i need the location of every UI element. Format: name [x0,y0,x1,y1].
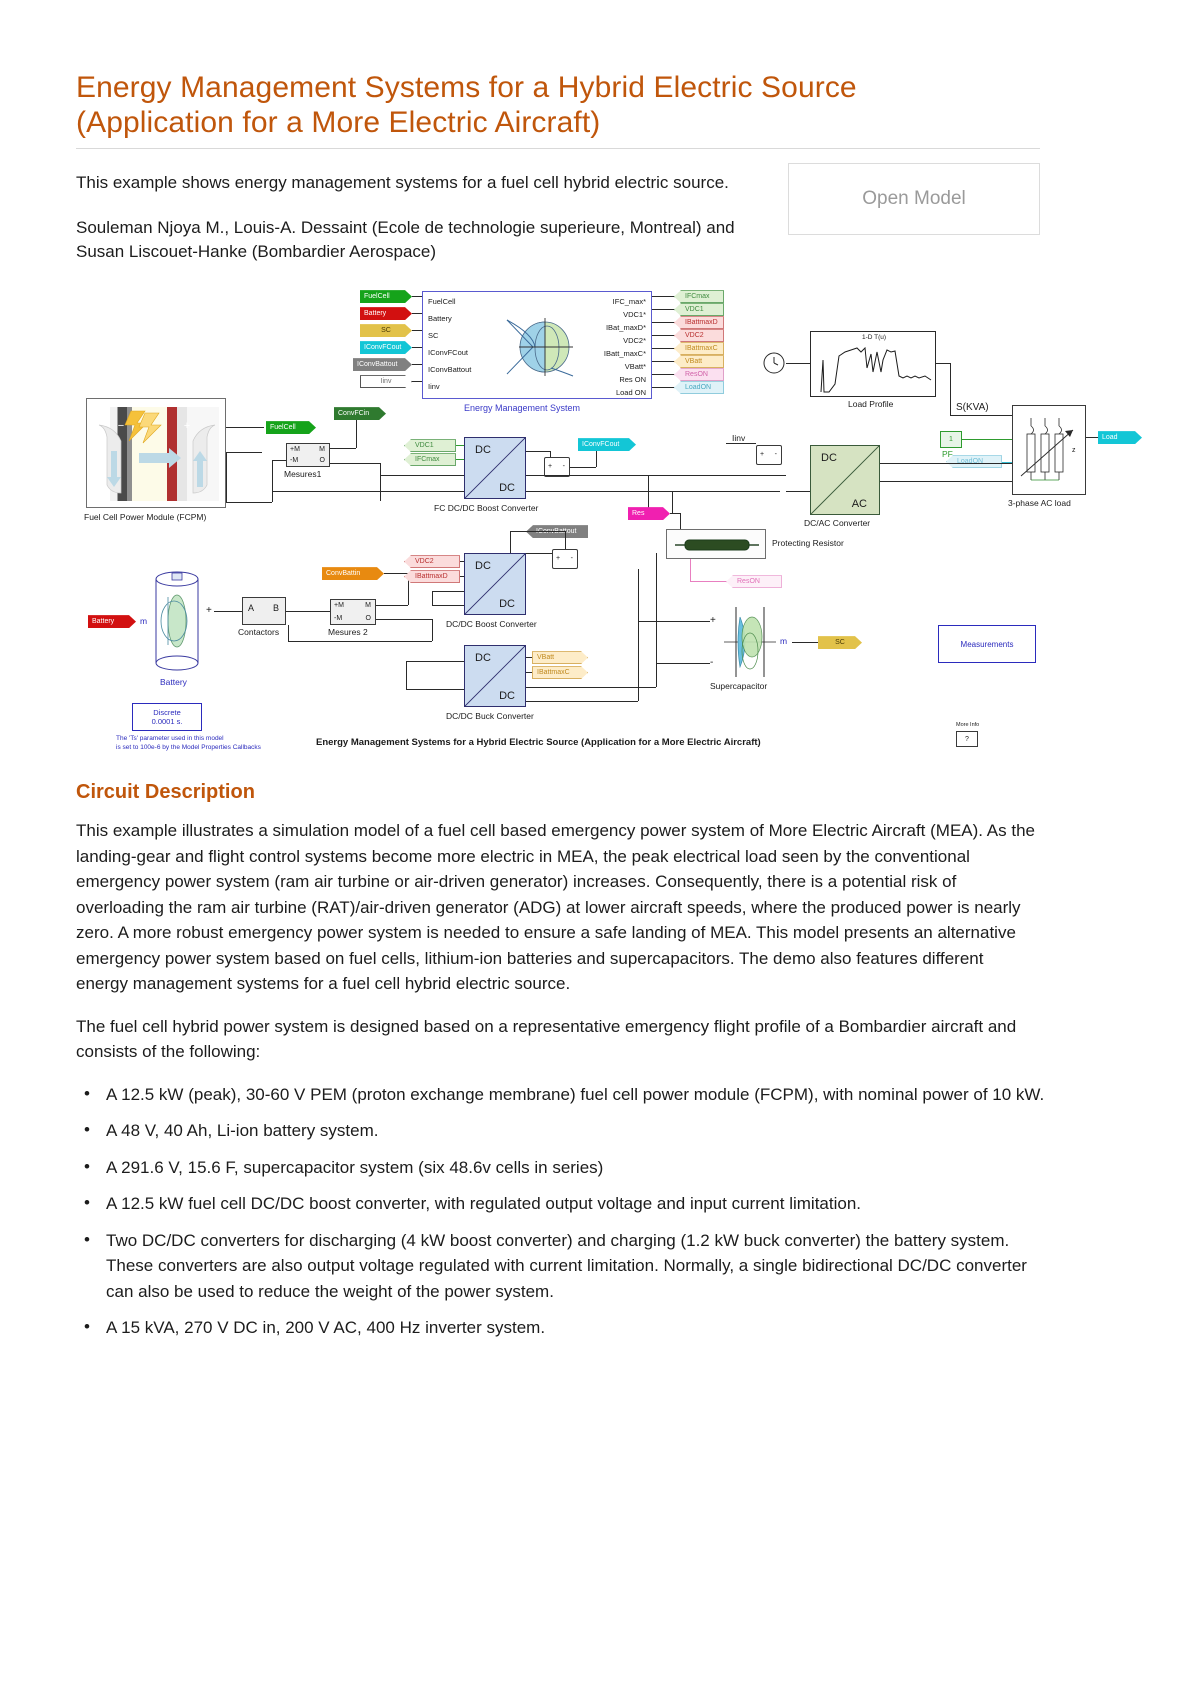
ems-out-reson: Res ON [619,375,646,384]
supercap-plus-port: + [710,615,716,626]
sum1-minus: - [563,463,565,470]
goto-tag-ibattmaxd[interactable]: IBattmaxD [674,316,724,329]
ems-out-ibattmaxc: IBatt_maxC* [604,349,646,358]
sum2-minus: - [775,451,777,458]
current-sum-block-1[interactable]: + - [544,457,570,477]
protecting-resistor-block[interactable] [666,529,766,559]
more-info-button[interactable]: ? [956,731,978,747]
dcdc-buck-converter-block[interactable]: DC DC [464,645,526,707]
list-item: Two DC/DC converters for discharging (4 … [76,1228,1056,1305]
load-profile-inner-label: 1-D T(u) [811,334,936,341]
fcpm-label: Fuel Cell Power Module (FCPM) [84,512,206,522]
circuit-description-paragraph-1: This example illustrates a simulation mo… [76,818,1036,997]
ems-in-fuelcell: FuelCell [428,297,456,306]
ems-thumbnail-icon [505,316,575,378]
ems-out-ifcmax: IFC_max* [613,297,646,306]
goto-tag-loadon[interactable]: LoadON [674,381,724,394]
from-tag-iconvfcout[interactable]: IConvFCout [360,341,412,354]
authors-paragraph: Souleman Njoya M., Louis-A. Dessaint (Ec… [76,216,748,265]
dcac-ac-bottom: AC [852,498,867,510]
fc-dcdc-boost-converter-block[interactable]: DC DC [464,437,526,499]
open-model-button[interactable]: Open Model [788,163,1040,235]
ems-caption: Energy Management System [464,403,580,413]
circuit-description-heading: Circuit Description [76,781,1116,804]
goto-tag-ibattmaxc[interactable]: IBattmaxC [674,342,724,355]
ems-out-ibatmaxd: IBat_maxD* [606,323,646,332]
sum2-plus: + [760,451,764,458]
contactor-port-a: A [248,603,254,613]
mesures1-block[interactable]: +M M -M O [286,443,330,467]
mesures2-port-o: O [366,615,371,622]
mesures1-port-plus-m: +M [290,446,300,453]
from-tag-ifcmax-conv[interactable]: IFCmax [404,453,456,466]
from-tag-iconvbattout[interactable]: IConvBattout [353,358,412,371]
page-title-line1: Energy Management Systems for a Hybrid E… [76,71,857,104]
contactors-label: Contactors [238,627,279,637]
svg-text:z: z [1072,447,1076,454]
list-item: A 291.6 V, 15.6 F, supercapacitor system… [76,1155,1056,1181]
dcac-converter-block[interactable]: DC AC [810,445,880,515]
from-tag-iinv[interactable]: Iinv [360,375,412,388]
energy-management-system-block[interactable]: FuelCell Battery SC IConvFCout IConvBatt… [422,291,652,399]
dcdc-boost-label: DC/DC Boost Converter [446,619,537,629]
s-kva-label: S(KVA) [956,402,989,413]
list-item: A 12.5 kW (peak), 30-60 V PEM (proton ex… [76,1082,1056,1108]
from-tag-res[interactable]: Res [628,507,670,520]
ems-in-iconvbattout: IConvBattout [428,365,471,374]
fc-boost-label: FC DC/DC Boost Converter [434,503,538,513]
mesures1-port-o: O [320,457,325,464]
from-tag-vdc2[interactable]: VDC2 [404,555,460,568]
ems-out-vdc1: VDC1* [623,310,646,319]
ems-out-loadon: Load ON [616,388,646,397]
from-tag-fuelcell[interactable]: FuelCell [360,290,412,303]
goto-tag-vbatt[interactable]: VBatt [674,355,724,368]
supercap-port-m: m [780,636,787,646]
document-page: Energy Management Systems for a Hybrid E… [0,0,1192,1685]
from-tag-ibattmaxc[interactable]: IBattmaxC [532,666,588,679]
simulink-model-diagram: − + Fuel Cell Power Module (FCPM) FuelCe… [66,285,1106,755]
goto-tag-sc-2[interactable]: SC [818,636,862,649]
document-content: Energy Management Systems for a Hybrid E… [76,70,1116,1352]
mesures1-port-minus-m: -M [290,457,298,464]
current-sum-block-2[interactable]: + - [756,445,782,465]
ems-out-vdc2: VDC2* [623,336,646,345]
list-item: A 12.5 kW fuel cell DC/DC boost converte… [76,1191,1056,1217]
from-tag-loadon-2[interactable]: LoadON [946,455,1002,468]
battery-label: Battery [160,677,187,687]
contactor-port-b: B [273,603,279,613]
goto-tag-load[interactable]: Load [1098,431,1142,444]
goto-tag-ifcmax[interactable]: IFCmax [674,290,724,303]
iinv-wire-label: Iinv [732,433,745,443]
mesures2-port-m: M [365,602,371,609]
load-profile-block[interactable]: 1-D T(u) [810,331,936,397]
pf-value: 1 [949,436,953,443]
mesures2-label: Mesures 2 [328,627,368,637]
page-title: Energy Management Systems for a Hybrid E… [76,70,1116,140]
from-tag-vdc1-conv[interactable]: VDC1 [404,439,456,452]
mesures1-label: Mesures1 [284,469,321,479]
sum3-plus: + [556,555,560,562]
contactors-block[interactable]: A B [242,597,286,625]
list-item: A 48 V, 40 Ah, Li-ion battery system. [76,1118,1056,1144]
dcdc-buck-label: DC/DC Buck Converter [446,711,534,721]
measurements-block[interactable]: Measurements [938,625,1036,663]
battery-block[interactable] [150,571,204,675]
goto-tag-vdc1[interactable]: VDC1 [674,303,724,316]
from-tag-reson-2[interactable]: ResON [726,575,782,588]
title-divider [76,148,1040,149]
ems-in-iinv: Iinv [428,382,440,391]
supercap-minus-port: - [710,657,713,668]
goto-tag-vdc2[interactable]: VDC2 [674,329,724,342]
dcac-label: DC/AC Converter [804,518,870,528]
from-tag-ibattmaxd[interactable]: IBattmaxD [404,570,460,583]
pf-constant-block[interactable]: 1 [940,431,962,448]
ts-note-line2: is set to 100e-6 by the Model Properties… [116,744,261,751]
ts-note: The 'Ts' parameter used in this model is… [116,735,261,752]
from-tag-battery[interactable]: Battery [360,307,412,320]
protecting-resistor-label: Protecting Resistor [772,538,844,548]
intro-paragraph: This example shows energy management sys… [76,171,748,196]
system-component-list: A 12.5 kW (peak), 30-60 V PEM (proton ex… [76,1082,1116,1341]
from-tag-sc[interactable]: SC [360,324,412,337]
dcdc-boost-converter-block[interactable]: DC DC [464,553,526,615]
load-profile-label: Load Profile [848,399,893,409]
discrete-line2: 0.0001 s. [152,717,183,726]
svg-text:−: − [118,420,124,432]
sum1-plus: + [548,463,552,470]
more-info-label: More Info [956,722,979,728]
clock-block[interactable] [762,351,786,375]
three-phase-ac-load-label: 3-phase AC load [1008,498,1071,508]
intro-section: Open Model This example shows energy man… [76,171,1116,265]
circuit-description-paragraph-2: The fuel cell hybrid power system is des… [76,1014,1036,1065]
diagram-caption: Energy Management Systems for a Hybrid E… [316,737,761,748]
dcac-dc-top: DC [821,452,837,464]
ts-note-line1: The 'Ts' parameter used in this model [116,735,224,742]
goto-tag-convfcin[interactable]: ConvFCin [334,407,386,420]
more-info-glyph: ? [965,736,969,743]
three-phase-ac-load-block[interactable]: z [1012,405,1086,495]
list-item: A 15 kVA, 270 V DC in, 200 V AC, 400 Hz … [76,1315,1056,1341]
page-title-line2: (Application for a More Electric Aircraf… [76,106,600,139]
current-sum-block-3[interactable]: + - [552,549,578,569]
goto-tag-iconvfcout-2[interactable]: IConvFCout [578,438,636,451]
ems-in-battery: Battery [428,314,452,323]
battery-plus-port: + [206,605,212,616]
ems-in-sc: SC [428,331,438,340]
goto-tag-reson[interactable]: ResON [674,368,724,381]
mesures2-port-minus-m: -M [334,615,342,622]
ems-in-iconvfcout: IConvFCout [428,348,468,357]
from-tag-vbatt[interactable]: VBatt [532,651,588,664]
discrete-line1: Discrete [153,708,181,717]
goto-tag-fuelcell[interactable]: FuelCell [266,421,316,434]
measurements-label: Measurements [961,640,1014,649]
fuel-cell-power-module-block[interactable]: − + [86,398,226,508]
goto-tag-battery-2[interactable]: Battery [88,615,136,628]
mesures1-port-m: M [319,446,325,453]
sum3-minus: - [571,555,573,562]
mesures2-port-plus-m: +M [334,602,344,609]
goto-tag-convbattin[interactable]: ConvBattin [322,567,384,580]
svg-text:+: + [184,420,190,432]
ems-out-vbatt: VBatt* [625,362,646,371]
mesures2-block[interactable]: +M M -M O [330,599,376,625]
supercapacitor-block[interactable] [722,605,778,679]
battery-port-m: m [140,616,147,626]
supercapacitor-label: Supercapacitor [710,681,767,691]
powergui-discrete-block[interactable]: Discrete 0.0001 s. [132,703,202,731]
